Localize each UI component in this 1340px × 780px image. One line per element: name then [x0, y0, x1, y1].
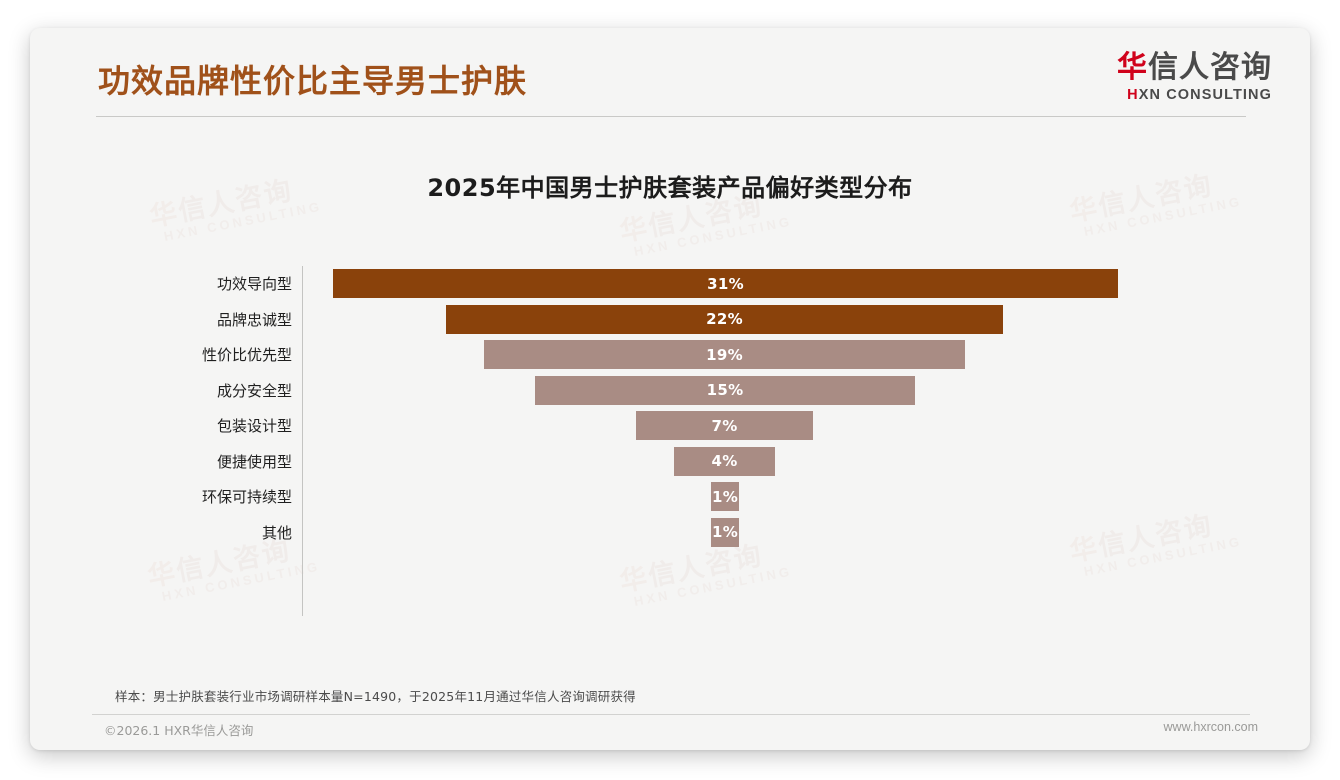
bar-row: 环保可持续型1% — [30, 479, 1310, 515]
bar-track: 31% — [303, 266, 1310, 302]
slide-header: 功效品牌性价比主导男士护肤 华信人咨询 HXN CONSULTING — [30, 28, 1310, 128]
logo-cn-dark: 信人咨询 — [1148, 50, 1272, 85]
watermark-en: HXN CONSULTING — [633, 215, 793, 258]
bar-segment[interactable]: 1% — [711, 482, 739, 511]
bar-row: 其他1% — [30, 515, 1310, 551]
bar-category-label: 功效导向型 — [30, 273, 292, 294]
logo-en-rest: XN CONSULTING — [1139, 87, 1272, 103]
source-note: 样本：男士护肤套装行业市场调研样本量N=1490，于2025年11月通过华信人咨… — [115, 686, 636, 705]
bar-category-label: 性价比优先型 — [30, 344, 292, 365]
bar-row: 便捷使用型4% — [30, 444, 1310, 480]
bar-rows: 功效导向型31%品牌忠诚型22%性价比优先型19%成分安全型15%包装设计型7%… — [30, 266, 1310, 550]
bar-row: 品牌忠诚型22% — [30, 302, 1310, 338]
bar-segment[interactable]: 7% — [636, 411, 813, 440]
bar-track: 19% — [303, 337, 1310, 373]
bar-category-label: 环保可持续型 — [30, 486, 292, 507]
logo-cn-red: 华 — [1117, 50, 1148, 85]
chart-plot-area: 功效导向型31%品牌忠诚型22%性价比优先型19%成分安全型15%包装设计型7%… — [30, 256, 1310, 616]
brand-logo: 华信人咨询 HXN CONSULTING — [1117, 52, 1272, 104]
bar-value-label: 15% — [707, 381, 744, 399]
website-url[interactable]: www.hxrcon.com — [1164, 720, 1258, 734]
header-divider — [96, 116, 1246, 117]
bar-segment[interactable]: 19% — [484, 340, 965, 369]
footer-divider — [92, 714, 1250, 715]
bar-value-label: 1% — [712, 523, 738, 541]
bar-value-label: 22% — [706, 310, 743, 328]
bar-value-label: 4% — [711, 452, 737, 470]
logo-chinese: 华信人咨询 — [1117, 52, 1272, 84]
bar-track: 22% — [303, 302, 1310, 338]
bar-category-label: 成分安全型 — [30, 380, 292, 401]
bar-track: 1% — [303, 479, 1310, 515]
logo-english: HXN CONSULTING — [1117, 87, 1272, 104]
bar-segment[interactable]: 15% — [535, 376, 915, 405]
bar-row: 功效导向型31% — [30, 266, 1310, 302]
bar-track: 7% — [303, 408, 1310, 444]
bar-segment[interactable]: 1% — [711, 518, 739, 547]
page-title: 功效品牌性价比主导男士护肤 — [98, 56, 527, 102]
bar-value-label: 1% — [712, 488, 738, 506]
bar-track: 1% — [303, 515, 1310, 551]
bar-row: 包装设计型7% — [30, 408, 1310, 444]
bar-value-label: 31% — [707, 275, 744, 293]
bar-category-label: 品牌忠诚型 — [30, 309, 292, 330]
watermark-cn-first: 华 — [617, 212, 651, 247]
bar-value-label: 19% — [706, 346, 743, 364]
bar-segment[interactable]: 22% — [446, 305, 1003, 334]
bar-row: 成分安全型15% — [30, 373, 1310, 409]
chart-title: 2025年中国男士护肤套装产品偏好类型分布 — [30, 168, 1310, 203]
bar-category-label: 包装设计型 — [30, 415, 292, 436]
bar-track: 4% — [303, 444, 1310, 480]
bar-segment[interactable]: 31% — [333, 269, 1118, 298]
slide-canvas: 华信人咨询 HXN CONSULTING 华信人咨询 HXN CONSULTIN… — [30, 28, 1310, 750]
bar-value-label: 7% — [711, 417, 737, 435]
bar-segment[interactable]: 4% — [674, 447, 775, 476]
watermark-en: HXN CONSULTING — [163, 200, 323, 243]
bar-category-label: 便捷使用型 — [30, 451, 292, 472]
bar-row: 性价比优先型19% — [30, 337, 1310, 373]
bar-category-label: 其他 — [30, 522, 292, 543]
logo-en-red: H — [1127, 87, 1139, 103]
bar-track: 15% — [303, 373, 1310, 409]
copyright-text: ©2026.1 HXR华信人咨询 — [104, 720, 253, 739]
